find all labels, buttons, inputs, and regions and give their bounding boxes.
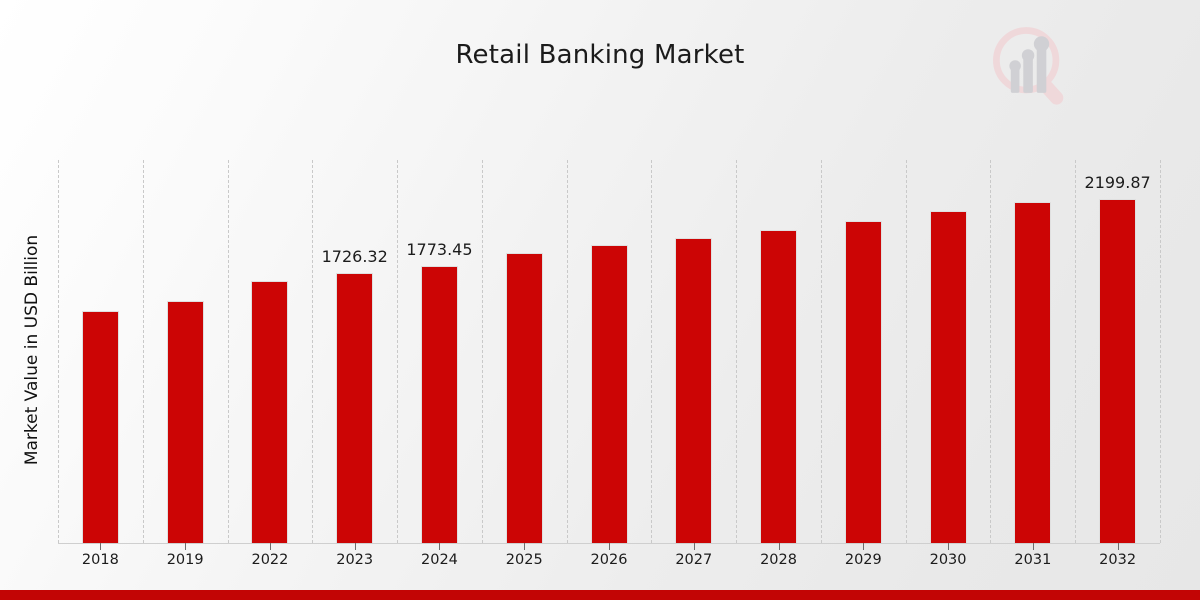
gridline [397,160,398,543]
gridline [58,160,59,543]
chart-canvas: Retail Banking Market Market Value in US… [0,0,1200,600]
x-axis-tick [779,543,780,550]
bar-2026[interactable] [591,245,628,543]
gridline [143,160,144,543]
gridline [990,160,991,543]
x-axis-tick [439,543,440,550]
x-axis-tick [185,543,186,550]
bar-2019[interactable] [167,301,204,543]
gridline [1075,160,1076,543]
bar-2027[interactable] [675,238,712,543]
x-axis-tick [355,543,356,550]
x-axis-tick [609,543,610,550]
bar-value-label-2032: 2199.87 [1068,173,1168,192]
x-axis-label-2032: 2032 [1068,552,1168,568]
bar-2018[interactable] [82,311,119,543]
bar-2028[interactable] [760,230,797,543]
bar-2031[interactable] [1014,202,1051,543]
bar-2032[interactable] [1099,199,1136,543]
gridline [651,160,652,543]
footer-accent-band [0,590,1200,600]
gridline [1160,160,1161,543]
gridline [567,160,568,543]
bar-2025[interactable] [506,253,543,543]
x-axis-tick [694,543,695,550]
gridline [228,160,229,543]
bar-2029[interactable] [845,221,882,543]
bar-2024[interactable] [421,266,458,543]
plot-area [58,160,1160,543]
x-axis-tick [948,543,949,550]
y-axis-title: Market Value in USD Billion [22,90,42,600]
bar-2030[interactable] [930,211,967,543]
x-axis-tick [863,543,864,550]
x-axis-tick [270,543,271,550]
x-axis-tick [100,543,101,550]
gridline [482,160,483,543]
gridline [312,160,313,543]
x-axis-tick [524,543,525,550]
gridline [821,160,822,543]
bar-2023[interactable] [336,273,373,543]
gridline [736,160,737,543]
bar-value-label-2024: 1773.45 [389,240,489,259]
x-axis-tick [1118,543,1119,550]
x-axis-tick [1033,543,1034,550]
market-research-magnifier-logo [982,18,1078,114]
bar-2022[interactable] [251,281,288,543]
gridline [906,160,907,543]
